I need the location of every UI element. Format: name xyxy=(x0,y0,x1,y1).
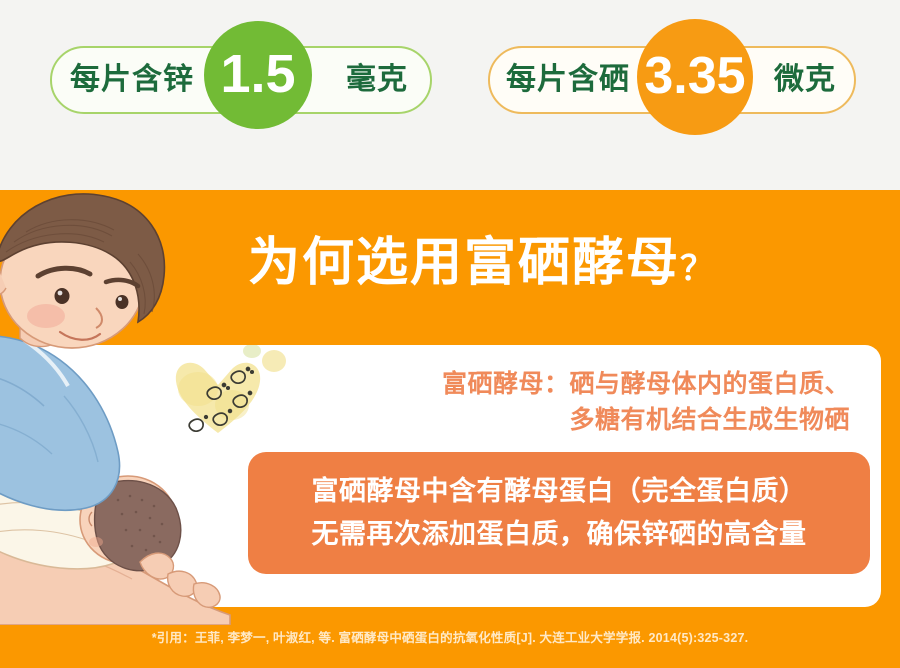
selenium-value: 3.35 xyxy=(644,50,745,102)
infographic-canvas: 每片含锌 毫克 1.5 每片含硒 微克 3.35 xyxy=(0,0,900,668)
nutrient-badge-strip: 每片含锌 毫克 1.5 每片含硒 微克 3.35 xyxy=(0,0,900,190)
protein-claim-box: 富硒酵母中含有酵母蛋白（完全蛋白质） 无需再次添加蛋白质，确保锌硒的高含量 xyxy=(248,452,870,574)
zinc-value: 1.5 xyxy=(220,47,295,101)
hero-headline-question-mark: ？ xyxy=(680,250,714,288)
zinc-badge-label-left: 每片含锌 xyxy=(70,65,194,95)
heart-footprints-decoration xyxy=(170,345,290,455)
selenium-badge-label-left: 每片含硒 xyxy=(506,65,630,95)
zinc-value-circle: 1.5 xyxy=(204,21,312,129)
selenium-badge-label-right: 微克 xyxy=(774,65,836,95)
reference-citation: *引用：王菲, 李梦一, 叶淑红, 等. 富硒酵母中硒蛋白的抗氧化性质[J]. … xyxy=(0,627,900,646)
hero-headline-text: 为何选用富硒酵母 xyxy=(248,234,680,292)
selenium-yeast-definition: 富硒酵母：硒与酵母体内的蛋白质、 多糖有机结合生成生物硒 xyxy=(380,366,850,439)
zinc-badge-label-right: 毫克 xyxy=(346,65,408,95)
definition-line-1: 富硒酵母：硒与酵母体内的蛋白质、 xyxy=(380,366,850,402)
claim-line-1: 富硒酵母中含有酵母蛋白（完全蛋白质） xyxy=(312,470,807,513)
selenium-value-circle: 3.35 xyxy=(637,19,753,135)
hero-panel: 为何选用富硒酵母？ 富硒酵母：硒与酵母体内的蛋白质、 多糖有机结合生成生物硒 富… xyxy=(0,190,900,668)
claim-line-2: 无需再次添加蛋白质，确保锌硒的高含量 xyxy=(312,513,807,556)
hero-headline: 为何选用富硒酵母？ xyxy=(248,237,848,289)
definition-line-2: 多糖有机结合生成生物硒 xyxy=(380,402,850,438)
